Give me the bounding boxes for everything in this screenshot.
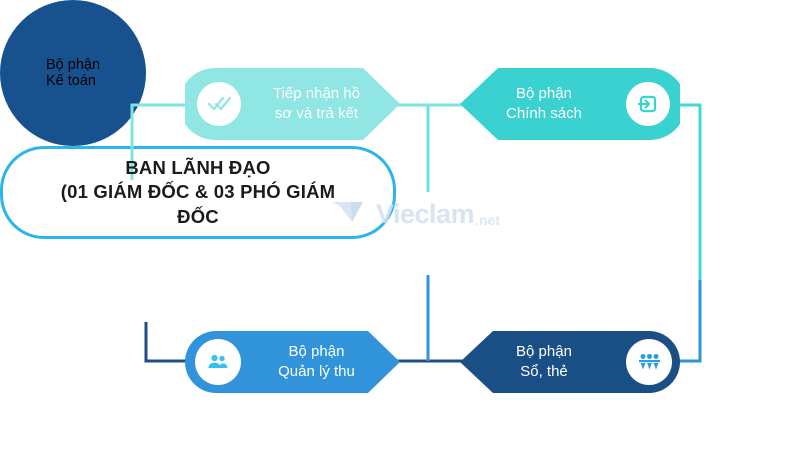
- login-arrow-icon: [626, 82, 670, 126]
- board-line3: ĐỐC: [177, 206, 219, 227]
- group-people-icon: [626, 339, 672, 385]
- board-line1: BAN LÃNH ĐẠO: [125, 157, 270, 178]
- users-icon: [195, 339, 241, 385]
- board-label: BAN LÃNH ĐẠO(01 GIÁM ĐỐC & 03 PHÓ GIÁMĐỐ…: [61, 156, 336, 228]
- org-chart-canvas: Tiếp nhận hồsơ và trả kết Bộ phậnChính s…: [0, 0, 800, 450]
- node-books[interactable]: Bộ phậnSổ, thẻ: [460, 331, 680, 393]
- node-policy[interactable]: Bộ phậnChính sách: [460, 68, 680, 140]
- node-reception[interactable]: Tiếp nhận hồsơ và trả kết: [185, 68, 400, 140]
- board-line2: (01 GIÁM ĐỐC & 03 PHÓ GIÁM: [61, 181, 336, 202]
- node-collection[interactable]: Bộ phậnQuản lý thu: [185, 331, 400, 393]
- double-check-icon: [197, 82, 241, 126]
